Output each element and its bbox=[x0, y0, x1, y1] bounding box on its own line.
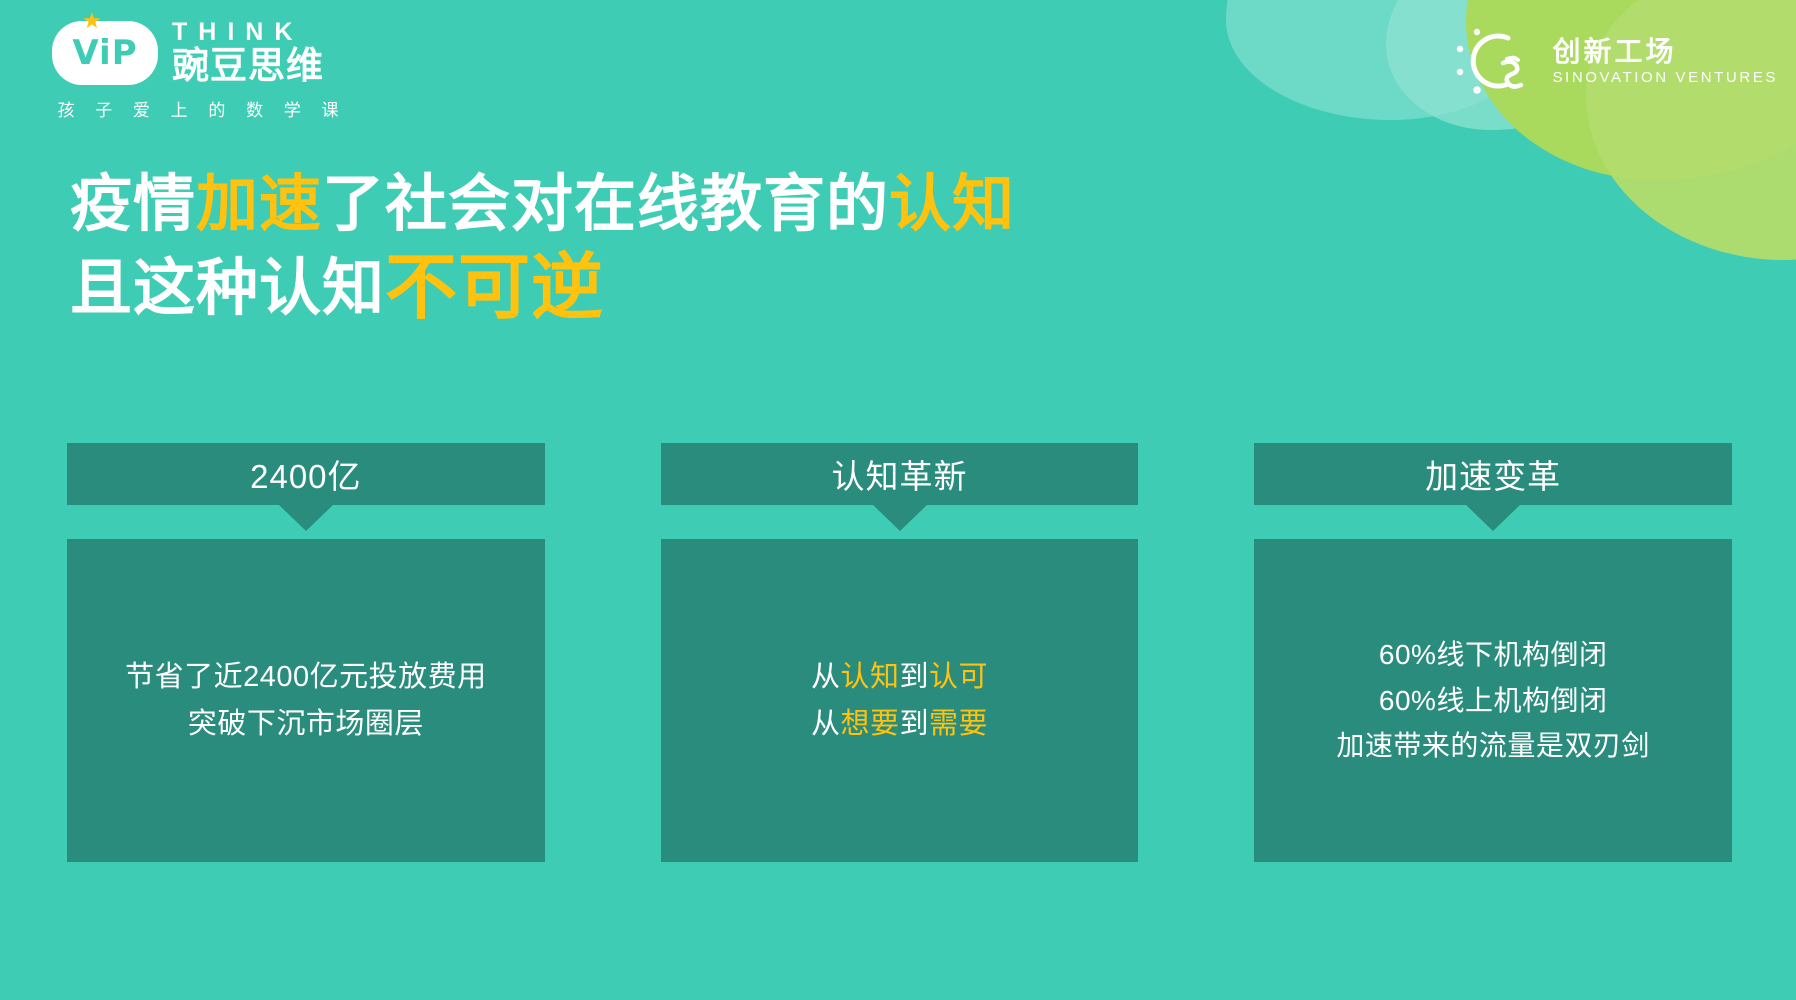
plain-run-0: 从 bbox=[811, 708, 841, 740]
brand-text-column: THINK 豌豆思维 bbox=[172, 20, 324, 86]
highlight-run-1: 认知 bbox=[840, 661, 899, 693]
brand-logo: ViP ★ THINK 豌豆思维 孩 子 爱 上 的 数 学 课 bbox=[52, 20, 382, 121]
highlight-run-3: 认可 bbox=[929, 661, 988, 693]
info-card-header-1: 2400亿 bbox=[67, 443, 545, 505]
partner-text: 创新工场 SINOVATION VENTURES bbox=[1552, 38, 1778, 85]
info-card-header-label: 加速变革 bbox=[1425, 450, 1561, 498]
highlight-run-1: 想要 bbox=[840, 708, 899, 740]
plain-run-0: 加速带来的流量是双刃剑 bbox=[1336, 730, 1650, 761]
info-card-text-line-1: 节省了近2400亿元投放费用 bbox=[125, 654, 487, 701]
brand-think-label: THINK bbox=[172, 20, 324, 45]
info-card-body-1: 节省了近2400亿元投放费用突破下沉市场圈层 bbox=[67, 539, 545, 862]
info-card-header-label: 认知革新 bbox=[832, 450, 968, 498]
highlight-run-3: 需要 bbox=[929, 708, 988, 740]
partner-name-cn: 创新工场 bbox=[1552, 38, 1676, 66]
info-card-text-line-2: 60%线上机构倒闭 bbox=[1336, 678, 1650, 723]
chevron-down-icon bbox=[279, 505, 333, 531]
slide-root: ViP ★ THINK 豌豆思维 孩 子 爱 上 的 数 学 课 创新工场 bbox=[0, 0, 1796, 1000]
page-title-line-1: 疫情加速了社会对在线教育的认知 bbox=[70, 170, 1015, 241]
info-card-text-line-1: 从认知到认可 bbox=[811, 654, 988, 701]
plain-run-0: 60%线下机构倒闭 bbox=[1379, 639, 1608, 670]
highlight-run-1: 加速 bbox=[196, 170, 322, 239]
brand-name-cn: 豌豆思维 bbox=[172, 47, 324, 86]
page-title-line-2: 且这种认知不可逆 bbox=[70, 247, 1015, 329]
info-card-body-3: 60%线下机构倒闭60%线上机构倒闭加速带来的流量是双刃剑 bbox=[1254, 539, 1732, 862]
info-card-text: 节省了近2400亿元投放费用突破下沉市场圈层 bbox=[125, 654, 487, 748]
plain-run-2: 到 bbox=[900, 661, 930, 693]
plain-run-2: 了社会对在线教育的 bbox=[322, 170, 889, 239]
page-title: 疫情加速了社会对在线教育的认知 且这种认知不可逆 bbox=[70, 170, 1015, 329]
info-card-text-line-2: 突破下沉市场圈层 bbox=[125, 701, 487, 748]
vip-wordmark: ViP bbox=[72, 36, 137, 70]
info-card-2: 认知革新从认知到认可从想要到需要 bbox=[661, 443, 1139, 862]
info-card-header-2: 认知革新 bbox=[661, 443, 1139, 505]
info-card-body-2: 从认知到认可从想要到需要 bbox=[661, 539, 1139, 862]
lightbulb-icon bbox=[1450, 18, 1536, 104]
plain-run-0: 突破下沉市场圈层 bbox=[188, 708, 424, 740]
plain-run-0: 节省了近2400亿元投放费用 bbox=[125, 661, 487, 693]
plain-run-0: 疫情 bbox=[70, 170, 196, 239]
info-card-text: 从认知到认可从想要到需要 bbox=[811, 654, 988, 748]
info-card-text-line-2: 从想要到需要 bbox=[811, 701, 988, 748]
info-card-header-label: 2400亿 bbox=[250, 450, 361, 498]
chevron-down-icon bbox=[873, 505, 927, 531]
info-card-text-line-3: 加速带来的流量是双刃剑 bbox=[1336, 723, 1650, 768]
brand-logo-row: ViP ★ THINK 豌豆思维 bbox=[52, 20, 382, 86]
info-card-3: 加速变革60%线下机构倒闭60%线上机构倒闭加速带来的流量是双刃剑 bbox=[1254, 443, 1732, 862]
plain-run-0: 60%线上机构倒闭 bbox=[1379, 685, 1608, 716]
highlight-run-1: 不可逆 bbox=[385, 248, 604, 328]
partner-logo: 创新工场 SINOVATION VENTURES bbox=[1450, 18, 1778, 104]
plain-run-2: 到 bbox=[900, 708, 930, 740]
info-card-text-line-1: 60%线下机构倒闭 bbox=[1336, 632, 1650, 677]
info-card-header-3: 加速变革 bbox=[1254, 443, 1732, 505]
info-card-text: 60%线下机构倒闭60%线上机构倒闭加速带来的流量是双刃剑 bbox=[1336, 632, 1650, 768]
brand-tagline: 孩 子 爱 上 的 数 学 课 bbox=[52, 96, 352, 121]
partner-name-en: SINOVATION VENTURES bbox=[1552, 70, 1778, 85]
info-card-1: 2400亿节省了近2400亿元投放费用突破下沉市场圈层 bbox=[67, 443, 545, 862]
highlight-run-3: 认知 bbox=[889, 170, 1015, 239]
vip-badge-icon: ViP ★ bbox=[52, 21, 158, 85]
star-icon: ★ bbox=[82, 10, 102, 32]
plain-run-0: 且这种认知 bbox=[70, 254, 385, 323]
card-group: 2400亿节省了近2400亿元投放费用突破下沉市场圈层认知革新从认知到认可从想要… bbox=[67, 443, 1732, 862]
chevron-down-icon bbox=[1466, 505, 1520, 531]
plain-run-0: 从 bbox=[811, 661, 841, 693]
